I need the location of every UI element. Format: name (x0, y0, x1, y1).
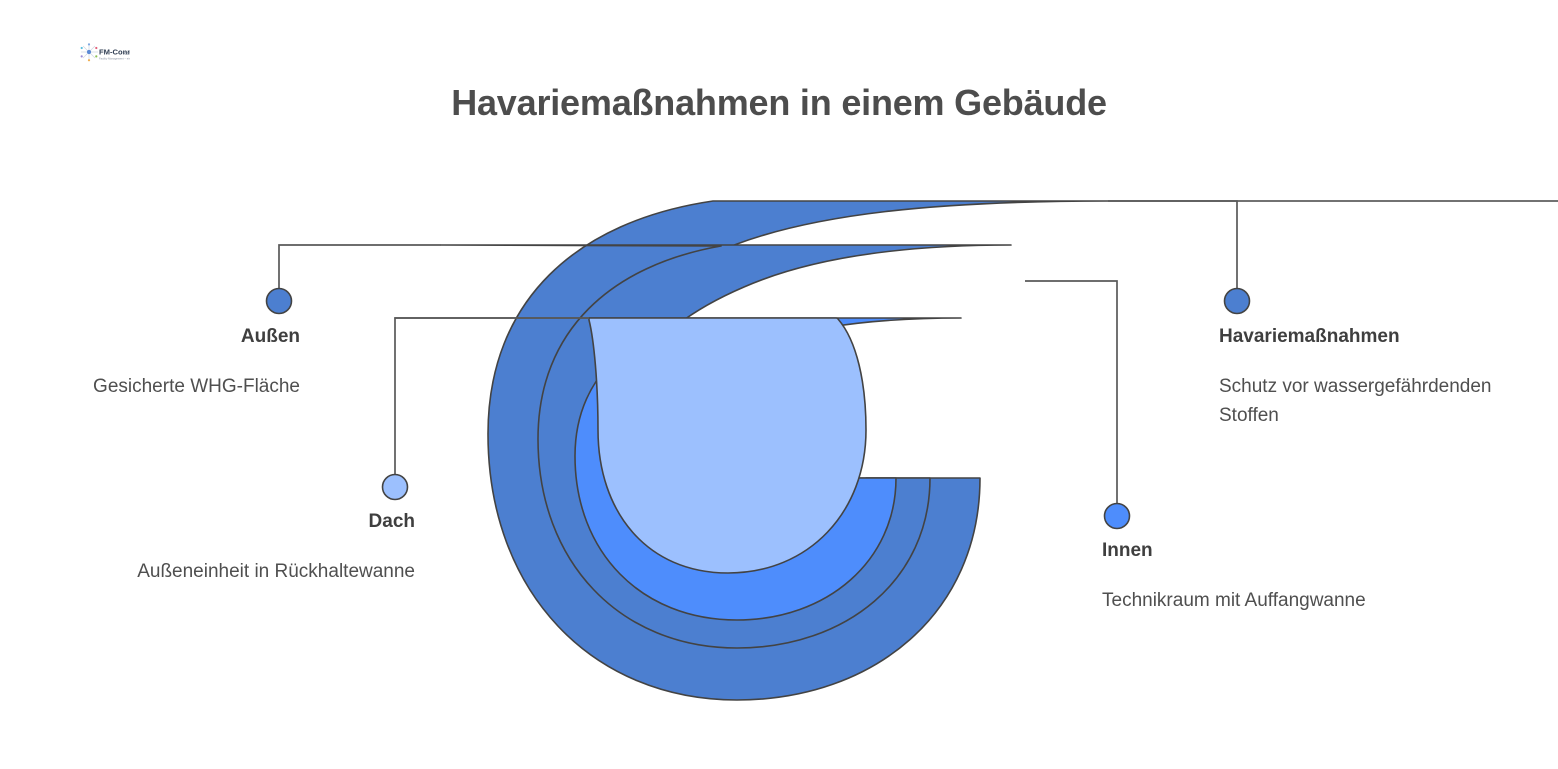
callout-havarie-description: Schutz vor wassergefährdenden Stoffen (1219, 372, 1519, 430)
callout-havarie: Havariemaßnahmen Schutz vor wassergefähr… (1219, 324, 1519, 430)
dot-havarie[interactable] (1225, 289, 1250, 314)
dot-aussen[interactable] (267, 289, 292, 314)
callout-dach: Dach Außeneinheit in Rückhaltewanne (105, 509, 415, 586)
callout-innen: Innen Technikraum mit Auffangwanne (1102, 538, 1402, 615)
callout-dach-title: Dach (105, 509, 415, 534)
connector-havarie (1108, 201, 1237, 301)
callout-havarie-title: Havariemaßnahmen (1219, 324, 1519, 349)
callout-aussen-title: Außen (22, 324, 300, 349)
callout-dach-description: Außeneinheit in Rückhaltewanne (105, 557, 415, 586)
connector-aussen (279, 245, 441, 301)
callout-aussen-description: Gesicherte WHG-Fläche (22, 372, 300, 401)
dot-innen[interactable] (1105, 504, 1130, 529)
spiral-bands (395, 201, 1558, 700)
dot-dach[interactable] (383, 475, 408, 500)
callout-aussen: Außen Gesicherte WHG-Fläche (22, 324, 300, 401)
infographic-canvas: FM-Connect .com Facility Management – ei… (0, 0, 1558, 769)
callout-innen-title: Innen (1102, 538, 1402, 563)
callout-innen-description: Technikraum mit Auffangwanne (1102, 586, 1402, 615)
connector-innen (1025, 281, 1117, 516)
